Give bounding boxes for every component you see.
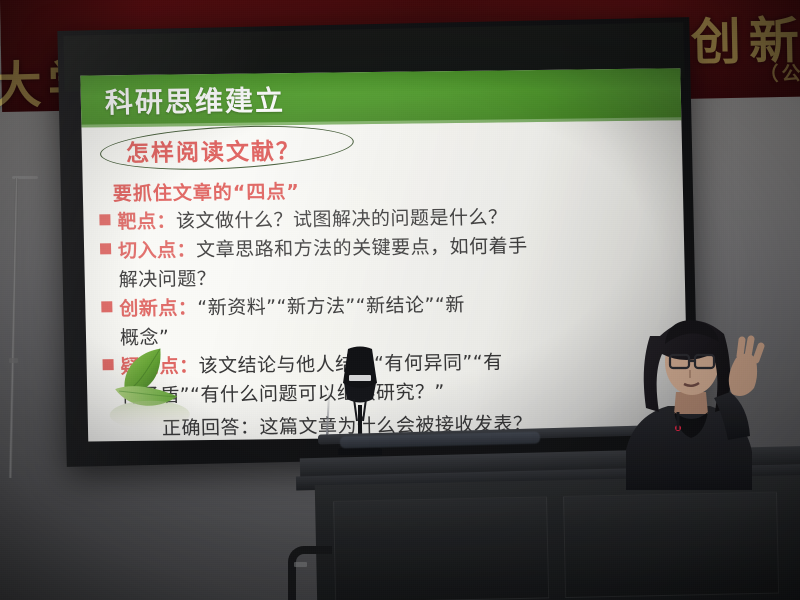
chair-label xyxy=(294,562,307,567)
bullet-key: 靶点： xyxy=(117,206,176,234)
speaker-figure xyxy=(608,300,800,490)
bullet-row: 靶点： 该文做什么？试图解决的问题是什么？ xyxy=(99,200,670,234)
bullet-key: 创新点： xyxy=(119,293,198,321)
square-bullet-icon xyxy=(100,243,111,254)
podium-panel xyxy=(563,492,779,598)
bullet-row: 创新点： “新资料”“新方法”“新结论”“新 xyxy=(101,287,672,321)
slide-subtitle-group: 怎样阅读文献？ xyxy=(108,129,328,172)
lecture-photo: 大学 暨创新 （公 科研思维建立 怎样阅读文献？ 要抓住文章的“四点” 靶点： xyxy=(0,0,800,600)
slide-title: 科研思维建立 xyxy=(104,79,285,121)
slide-subtitle: 怎样阅读文献？ xyxy=(108,129,328,172)
podium-panel xyxy=(333,496,549,600)
bullet-value: 文章思路和方法的关键要点，如何着手 xyxy=(196,231,528,262)
podium-body xyxy=(315,475,800,600)
bullet-continuation: 解决问题？ xyxy=(118,258,671,292)
chair-armrest xyxy=(288,546,332,600)
bullet-row: 切入点： 文章思路和方法的关键要点，如何着手 xyxy=(100,229,671,263)
bullet-value: 该文做什么？试图解决的问题是什么？ xyxy=(176,202,508,233)
square-bullet-icon xyxy=(101,301,112,312)
leaf-graphic-icon xyxy=(100,342,222,435)
pipe-clip xyxy=(9,358,18,363)
slide-lead-line: 要抓住文章的“四点” xyxy=(113,177,301,206)
bullet-value: “新资料”“新方法”“新结论”“新 xyxy=(197,290,465,320)
bullet-key: 切入点： xyxy=(118,235,197,263)
square-bullet-icon xyxy=(99,214,110,225)
